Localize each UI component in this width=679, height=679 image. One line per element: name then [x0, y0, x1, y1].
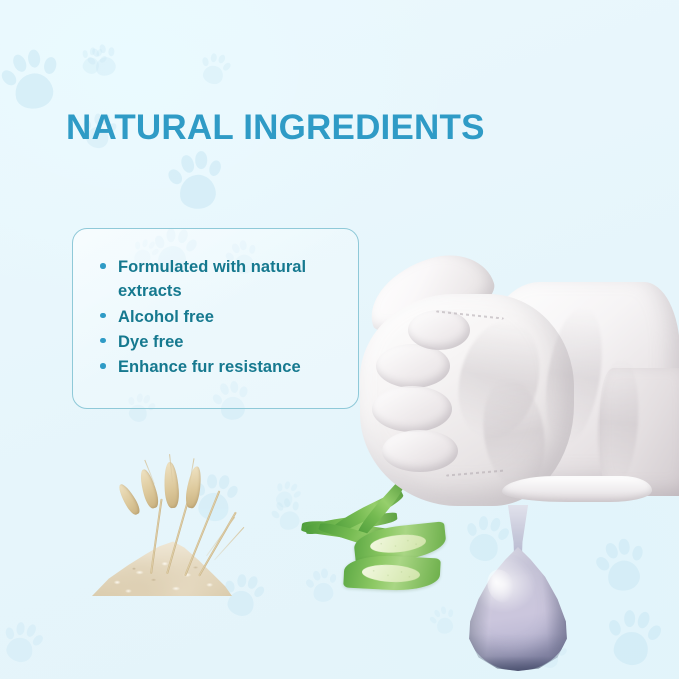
feature-bullet-list: Formulated with natural extractsAlcohol …	[97, 255, 348, 380]
glove-cuff	[502, 476, 652, 502]
wheat-head	[184, 466, 203, 510]
feature-bullet-item: Enhance fur resistance	[97, 355, 348, 379]
wheat-awn	[214, 527, 244, 560]
feature-bullet-item: Alcohol free	[97, 305, 348, 329]
feature-bullet-item: Formulated with natural extracts	[97, 255, 348, 304]
feature-bullet-item: Dye free	[97, 330, 348, 354]
glove-knuckle	[372, 386, 452, 432]
features-card: Formulated with natural extractsAlcohol …	[72, 228, 359, 409]
product-feature-graphic: NATURAL INGREDIENTS Formulated with natu…	[0, 0, 679, 679]
glove-knuckle	[376, 344, 450, 388]
paw-print-icon	[601, 604, 664, 671]
glove-knuckle	[408, 310, 470, 350]
droplet-rim	[466, 547, 570, 671]
oat-flakes-texture	[92, 534, 232, 596]
oats-ingredient-image	[88, 462, 268, 602]
page-title: NATURAL INGREDIENTS	[66, 108, 485, 148]
glove-knuckle	[382, 430, 458, 472]
wheat-head	[116, 482, 143, 517]
liquid-droplet	[452, 505, 592, 673]
paw-print-icon	[164, 146, 228, 214]
